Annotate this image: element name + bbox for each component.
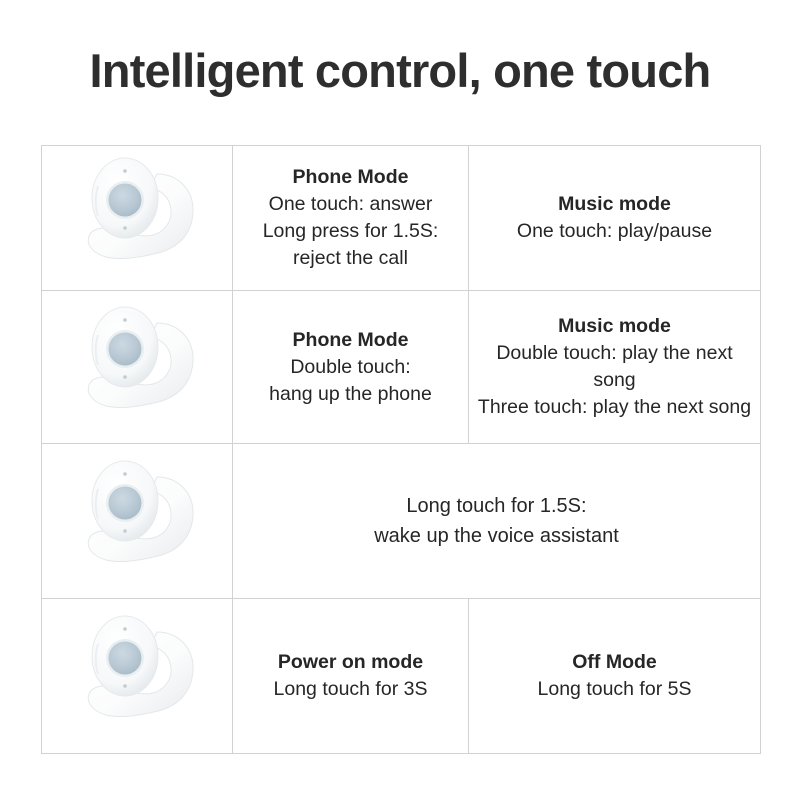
off-mode-text: Off Mode Long touch for 5S — [469, 649, 760, 703]
earbud-image-cell — [42, 291, 233, 444]
music-mode-cell: Music mode One touch: play/pause — [469, 146, 761, 291]
music-mode-text: Music mode One touch: play/pause — [469, 191, 760, 245]
cell-line: One touch: play/pause — [475, 218, 754, 245]
earbud-image-cell — [42, 444, 233, 599]
music-mode-text: Music mode Double touch: play the next s… — [469, 313, 760, 421]
cell-line: hang up the phone — [239, 381, 462, 408]
cell-line: wake up the voice assistant — [239, 521, 754, 551]
cell-heading: Off Mode — [475, 649, 754, 676]
product-feature-page: Intelligent control, one touch — [0, 0, 800, 800]
cell-heading: Power on mode — [239, 649, 462, 676]
table-row: Phone Mode One touch: answer Long press … — [42, 146, 761, 291]
earbud-icon — [62, 152, 212, 284]
cell-heading: Music mode — [475, 191, 754, 218]
off-mode-cell: Off Mode Long touch for 5S — [469, 599, 761, 754]
voice-assistant-text: Long touch for 1.5S: wake up the voice a… — [233, 491, 760, 551]
cell-line: Long touch for 1.5S: — [239, 491, 754, 521]
table-row: Power on mode Long touch for 3S Off Mode… — [42, 599, 761, 754]
phone-mode-cell: Phone Mode One touch: answer Long press … — [233, 146, 469, 291]
cell-line: Long touch for 5S — [475, 676, 754, 703]
voice-assistant-cell: Long touch for 1.5S: wake up the voice a… — [233, 444, 761, 599]
cell-line: Long press for 1.5S: — [239, 218, 462, 245]
power-on-mode-text: Power on mode Long touch for 3S — [233, 649, 468, 703]
control-spec-table: Phone Mode One touch: answer Long press … — [41, 145, 761, 754]
phone-mode-text: Phone Mode Double touch: hang up the pho… — [233, 327, 468, 408]
music-mode-cell: Music mode Double touch: play the next s… — [469, 291, 761, 444]
phone-mode-text: Phone Mode One touch: answer Long press … — [233, 164, 468, 272]
cell-line: Long touch for 3S — [239, 676, 462, 703]
table-row: Phone Mode Double touch: hang up the pho… — [42, 291, 761, 444]
cell-line: reject the call — [239, 245, 462, 272]
power-on-mode-cell: Power on mode Long touch for 3S — [233, 599, 469, 754]
phone-mode-cell: Phone Mode Double touch: hang up the pho… — [233, 291, 469, 444]
cell-heading: Phone Mode — [239, 327, 462, 354]
page-title: Intelligent control, one touch — [0, 44, 800, 98]
earbud-image-cell — [42, 599, 233, 754]
cell-line: Double touch: — [239, 354, 462, 381]
cell-heading: Phone Mode — [239, 164, 462, 191]
cell-line: One touch: answer — [239, 191, 462, 218]
earbud-image-cell — [42, 146, 233, 291]
cell-line: Double touch: play the next song — [475, 340, 754, 394]
earbud-icon — [62, 301, 212, 433]
cell-heading: Music mode — [475, 313, 754, 340]
cell-line: Three touch: play the next song — [475, 394, 754, 421]
table-row: Long touch for 1.5S: wake up the voice a… — [42, 444, 761, 599]
earbud-icon — [62, 455, 212, 587]
earbud-icon — [62, 610, 212, 742]
